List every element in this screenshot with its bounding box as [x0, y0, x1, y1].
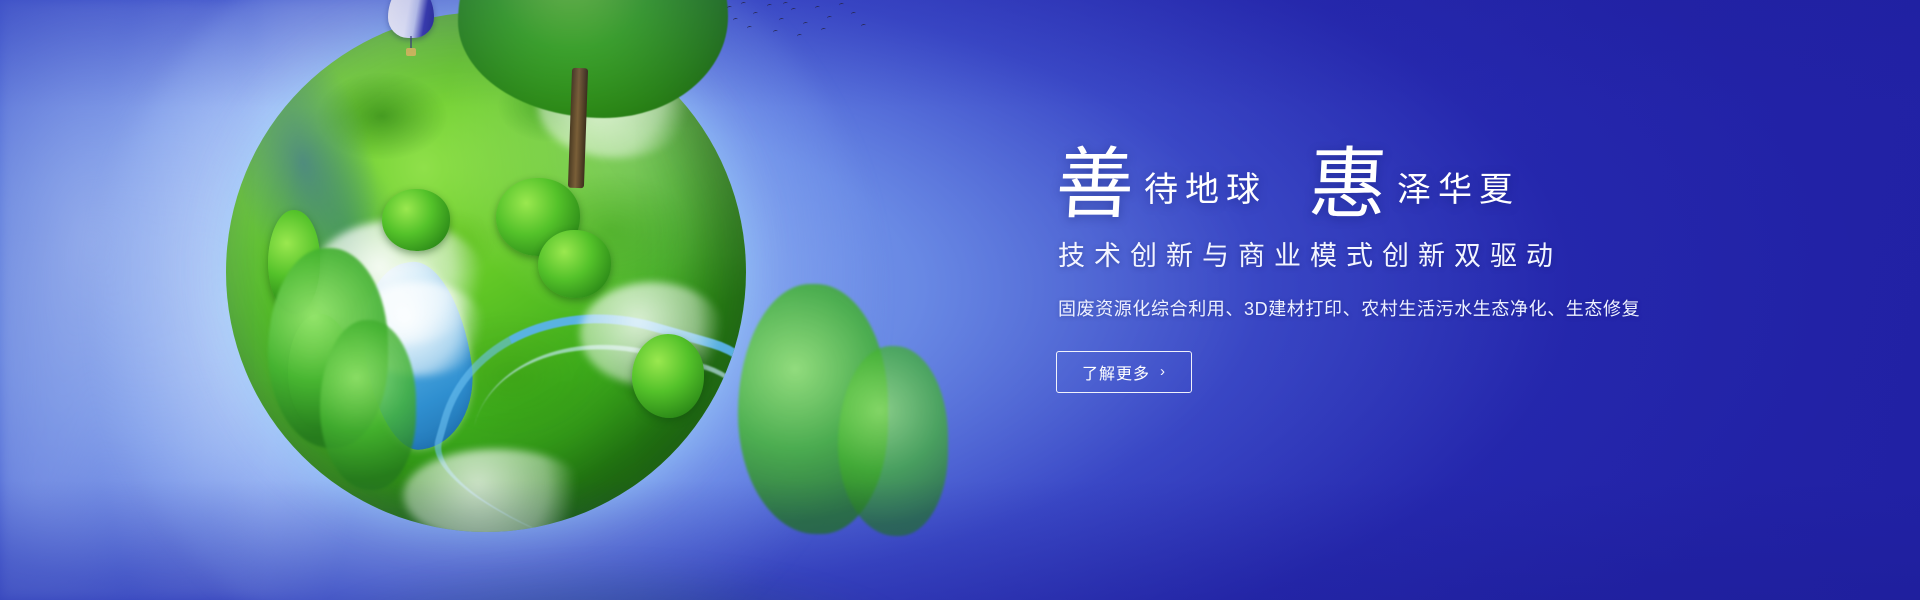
page-title: 善 待地球 惠 泽华夏 — [1056, 128, 1816, 220]
learn-more-button[interactable]: 了解更多 › — [1056, 351, 1192, 393]
hero-description: 固废资源化综合利用、3D建材打印、农村生活污水生态净化、生态修复 — [1058, 295, 1816, 321]
headline-group-1: 善 待地球 — [1056, 151, 1267, 220]
chevron-right-icon: › — [1160, 364, 1166, 379]
headline-rest-1: 待地球 — [1144, 174, 1267, 220]
headline-lead-char-2: 惠 — [1307, 151, 1389, 220]
headline-rest-2: 泽华夏 — [1397, 174, 1520, 220]
headline-group-2: 惠 泽华夏 — [1309, 151, 1520, 220]
learn-more-label: 了解更多 — [1082, 360, 1150, 384]
hero-banner: 善 待地球 惠 泽华夏 技术创新与商业模式创新双驱动 固废资源化综合利用、3D建… — [0, 0, 1920, 600]
headline-lead-char-1: 善 — [1054, 151, 1136, 220]
hero-subtitle: 技术创新与商业模式创新双驱动 — [1058, 234, 1816, 273]
hero-copy-block: 善 待地球 惠 泽华夏 技术创新与商业模式创新双驱动 固废资源化综合利用、3D建… — [1056, 128, 1816, 393]
